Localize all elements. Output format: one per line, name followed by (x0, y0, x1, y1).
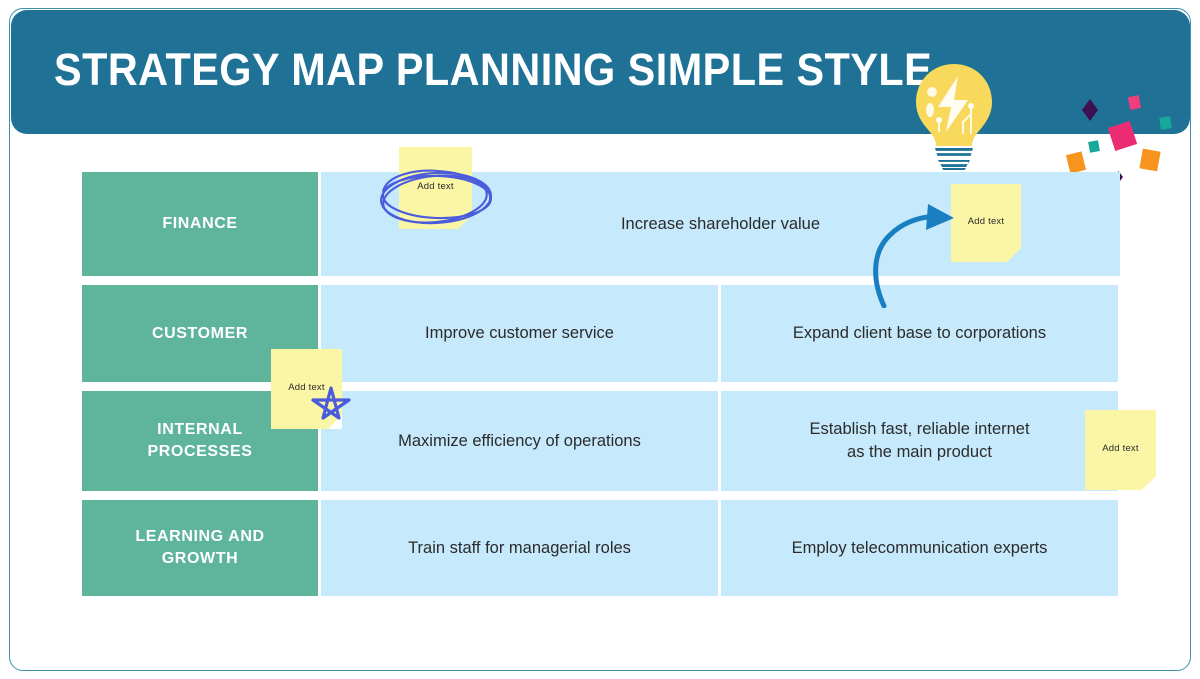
row-label-text: LEARNING AND GROWTH (135, 526, 264, 570)
confetti-square-teal-small (1159, 116, 1172, 129)
header-banner: STRATEGY MAP PLANNING SIMPLE STYLE (11, 10, 1190, 134)
cell-text: Train staff for managerial roles (408, 537, 631, 560)
cell-text: Expand client base to corporations (793, 322, 1046, 345)
cell-text: Improve customer service (425, 322, 614, 345)
row-label-text: CUSTOMER (152, 323, 248, 345)
cell-text: Establish fast, reliable internet as the… (809, 418, 1029, 464)
row-label-learning-and-growth: LEARNING AND GROWTH (82, 500, 318, 596)
cell-customer-2[interactable]: Expand client base to corporations (721, 285, 1118, 382)
row-cells-customer: Improve customer service Expand client b… (321, 285, 1120, 382)
sticky-note-finance-left[interactable]: Add text (399, 147, 472, 229)
row-cells-internal-processes: Maximize efficiency of operations Establ… (321, 391, 1120, 491)
sticky-note-internal-right[interactable]: Add text (1085, 410, 1156, 490)
cell-text: Employ telecommunication experts (792, 537, 1048, 560)
cell-learning-1[interactable]: Train staff for managerial roles (321, 500, 718, 596)
confetti-square-teal-tiny (1088, 140, 1100, 153)
confetti-diamond-purple (1082, 99, 1098, 121)
matrix-row-internal-processes: INTERNAL PROCESSES Maximize efficiency o… (82, 391, 1120, 491)
sticky-note-label: Add text (417, 181, 453, 192)
sticky-note-internal-left[interactable]: Add text (271, 349, 342, 429)
confetti-square-orange-right (1139, 149, 1160, 172)
cell-internal-1[interactable]: Maximize efficiency of operations (321, 391, 718, 491)
row-label-text: FINANCE (162, 213, 237, 235)
cell-customer-1[interactable]: Improve customer service (321, 285, 718, 382)
sticky-note-label: Add text (288, 382, 324, 393)
sticky-note-finance-right[interactable]: Add text (951, 184, 1021, 262)
cell-learning-2[interactable]: Employ telecommunication experts (721, 500, 1118, 596)
row-cells-learning-and-growth: Train staff for managerial roles Employ … (321, 500, 1120, 596)
sticky-note-label: Add text (1102, 443, 1138, 454)
row-label-text: INTERNAL PROCESSES (148, 419, 253, 463)
matrix-row-learning-and-growth: LEARNING AND GROWTH Train staff for mana… (82, 500, 1120, 596)
slide-canvas: STRATEGY MAP PLANNING SIMPLE STYLE (0, 0, 1200, 679)
lightbulb-icon (908, 62, 1000, 170)
cell-text: Maximize efficiency of operations (398, 430, 641, 453)
cell-internal-2[interactable]: Establish fast, reliable internet as the… (721, 391, 1118, 491)
matrix-row-customer: CUSTOMER Improve customer service Expand… (82, 285, 1120, 382)
confetti-square-pink-small (1128, 95, 1141, 110)
confetti-square-orange-left (1066, 151, 1086, 173)
page-title: STRATEGY MAP PLANNING SIMPLE STYLE (54, 38, 932, 102)
cell-text: Increase shareholder value (621, 213, 820, 236)
row-label-finance: FINANCE (82, 172, 318, 276)
sticky-note-label: Add text (968, 216, 1004, 227)
